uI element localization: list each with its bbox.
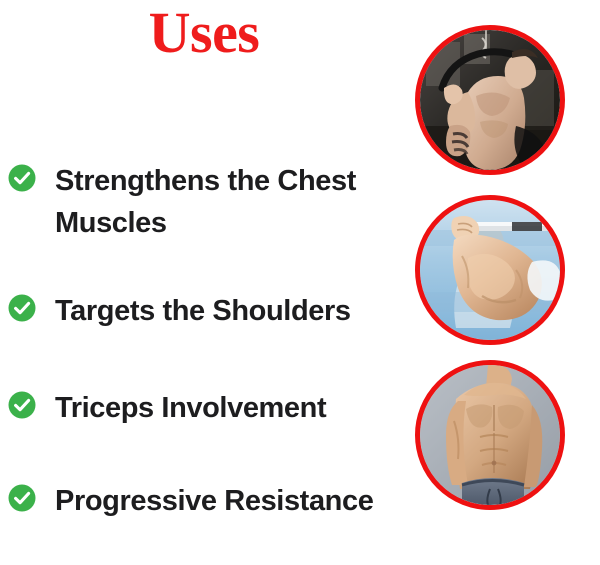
photo-frame [420,30,560,170]
uses-poster: Uses Strengthens the Chest Muscles Targe… [0,0,600,565]
check-circle-icon [8,391,36,419]
photo-frame [420,365,560,505]
check-circle-icon [8,294,36,322]
list-item: Targets the Shoulders [8,290,408,332]
list-item: Strengthens the Chest Muscles [8,160,408,244]
check-circle-icon [8,484,36,512]
list-item-label: Triceps Involvement [55,387,326,429]
biceps-barbell-photo [415,195,565,345]
photo-frame [420,200,560,340]
check-circle-icon [8,164,36,192]
list-item-label: Targets the Shoulders [55,290,351,332]
list-item-label: Progressive Resistance [55,480,373,522]
list-item: Progressive Resistance [8,480,408,522]
muscular-torso-photo [415,360,565,510]
list-item-label: Strengthens the Chest Muscles [55,160,403,244]
lat-pulldown-photo [415,25,565,175]
page-title: Uses [0,2,408,64]
list-item: Triceps Involvement [8,387,408,429]
